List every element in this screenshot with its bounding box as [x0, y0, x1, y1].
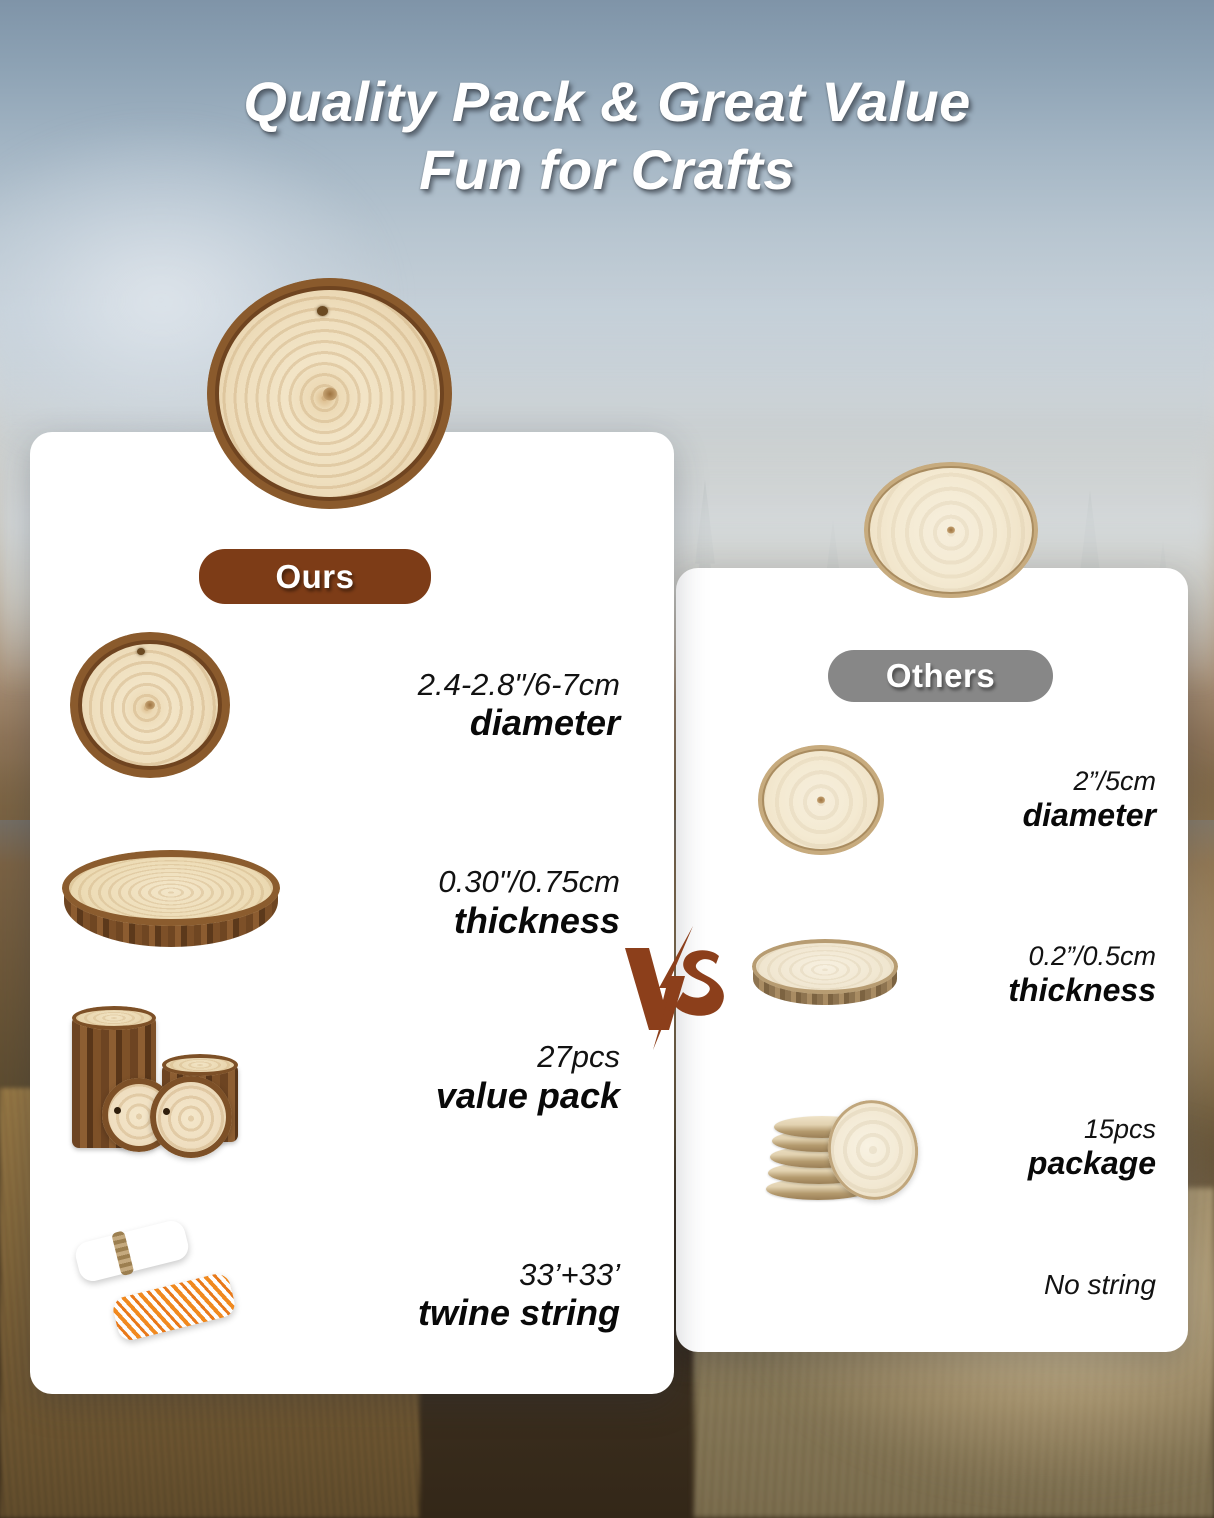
- wood-slice-top-view-icon: [70, 632, 230, 778]
- ours-value-pack-spec: 27pcs value pack: [436, 1039, 620, 1116]
- others-thickness-value: 0.2”/0.5cm: [1028, 941, 1156, 972]
- ours-badge-label: Ours: [275, 558, 354, 596]
- ours-badge: Ours: [199, 549, 431, 604]
- others-row-package: 15pcs package: [742, 1080, 1172, 1215]
- others-no-string-spec: No string: [1044, 1269, 1156, 1301]
- ours-value-pack-value: 27pcs: [537, 1039, 620, 1075]
- headline-line-2: Fun for Crafts: [0, 136, 1214, 204]
- others-badge-label: Others: [886, 657, 995, 695]
- others-thickness-label: thickness: [1008, 972, 1156, 1008]
- ours-twine-value: 33’+33’: [519, 1257, 620, 1293]
- ours-thickness-label: thickness: [454, 900, 620, 941]
- others-package-spec: 15pcs package: [1028, 1114, 1156, 1182]
- ours-diameter-label: diameter: [470, 702, 620, 743]
- jute-twine-bundle: [73, 1218, 191, 1284]
- ours-row-thickness: 0.30"/0.75cm thickness: [62, 840, 642, 965]
- ours-row-diameter: 2.4-2.8"/6-7cm diameter: [62, 630, 642, 780]
- ours-twine-label: twine string: [418, 1292, 620, 1333]
- ours-value-pack-label: value pack: [436, 1075, 620, 1116]
- others-row-diameter: 2”/5cm diameter: [742, 735, 1172, 865]
- front-slice-right: [150, 1076, 232, 1158]
- others-package-label: package: [1028, 1145, 1156, 1181]
- wood-slice-stack-icon: [62, 992, 248, 1164]
- pale-slice-stack-icon: [756, 1086, 926, 1210]
- ours-row-value-pack: 27pcs value pack: [62, 990, 642, 1165]
- orange-twine-bundle: [110, 1271, 237, 1343]
- pale-slice-top-view-icon: [758, 745, 884, 855]
- others-row-no-string: No string: [742, 1250, 1172, 1320]
- others-package-value: 15pcs: [1084, 1114, 1156, 1145]
- page-title: Quality Pack & Great Value Fun for Craft…: [0, 68, 1214, 205]
- ours-thickness-value: 0.30"/0.75cm: [438, 864, 620, 900]
- vs-icon: [619, 926, 739, 1050]
- vs-divider: [619, 926, 739, 1050]
- headline-line-1: Quality Pack & Great Value: [0, 68, 1214, 136]
- pale-slice-thin-icon: [752, 939, 898, 1011]
- ours-diameter-value: 2.4-2.8"/6-7cm: [418, 667, 620, 703]
- hero-wood-slice-ours: [207, 278, 452, 509]
- others-thickness-spec: 0.2”/0.5cm thickness: [1008, 941, 1156, 1009]
- others-diameter-label: diameter: [1023, 797, 1156, 833]
- twine-bundles-icon: [62, 1225, 252, 1365]
- hero-wood-slice-others: [864, 462, 1038, 598]
- others-row-thickness: 0.2”/0.5cm thickness: [742, 915, 1172, 1035]
- others-diameter-spec: 2”/5cm diameter: [1023, 766, 1156, 834]
- others-diameter-value: 2”/5cm: [1073, 766, 1156, 797]
- others-no-string-value: No string: [1044, 1269, 1156, 1301]
- wood-slice-side-view-icon: [62, 850, 280, 956]
- ours-row-twine-string: 33’+33’ twine string: [62, 1220, 642, 1370]
- ours-diameter-spec: 2.4-2.8"/6-7cm diameter: [418, 667, 620, 744]
- others-badge: Others: [828, 650, 1053, 702]
- ours-thickness-spec: 0.30"/0.75cm thickness: [438, 864, 620, 941]
- ours-twine-spec: 33’+33’ twine string: [418, 1257, 620, 1334]
